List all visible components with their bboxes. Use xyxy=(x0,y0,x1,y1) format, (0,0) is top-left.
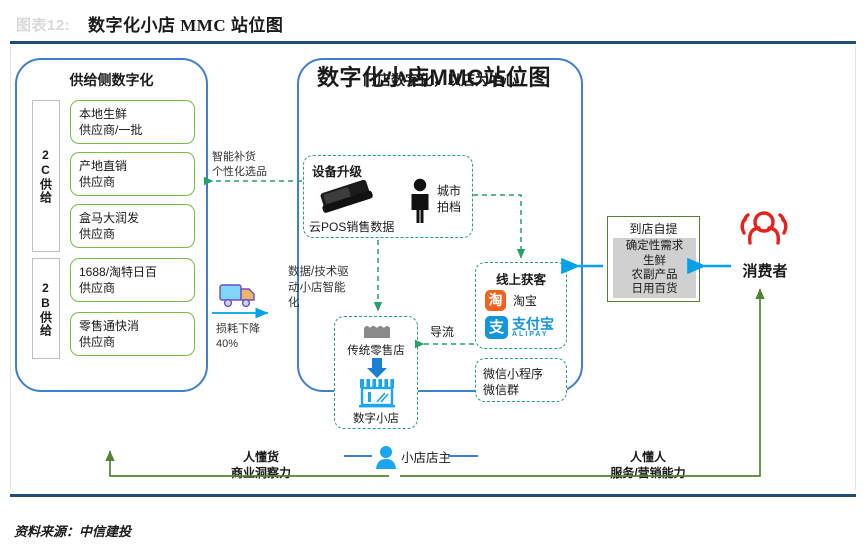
supplier-line1: 本地生鲜 xyxy=(79,106,194,122)
supplier-card[interactable]: 1688/淘特日百 供应商 xyxy=(70,258,195,302)
supplier-line1: 零售通快消 xyxy=(79,318,194,334)
pickup-item: 农副产品 xyxy=(632,268,678,282)
alipay-row[interactable]: 支 支付宝 ALIPAY xyxy=(485,316,554,339)
right-flow-line2: 服务/营销能力 xyxy=(588,466,708,482)
awning-gray-icon xyxy=(362,323,392,341)
pickup-item: 日用百货 xyxy=(632,282,678,296)
pos-terminal-icon xyxy=(316,180,376,215)
equipment-upgrade-box: 设备升级 云POS销售数据 城市 拍档 xyxy=(303,155,473,238)
page-root: 图表12: 数字化小店 MMC 站位图 资料来源：中信建投 数字化小店MMC站位… xyxy=(0,0,866,550)
alipay-sublabel: ALIPAY xyxy=(512,331,554,338)
digital-store-label: 数字小店 xyxy=(335,410,417,426)
consumer-label: 消费者 xyxy=(725,260,805,281)
right-flow-label: 人懂人 服务/营销能力 xyxy=(588,450,708,481)
loss-line1: 损耗下降 xyxy=(216,322,260,337)
city-partner-line1: 城市 xyxy=(437,184,461,200)
supplier-card[interactable]: 本地生鲜 供应商/一批 xyxy=(70,100,195,144)
segment-2b-text: 2B供给 xyxy=(38,281,55,337)
storefront-blue-icon xyxy=(357,375,397,409)
city-partner-label: 城市 拍档 xyxy=(437,184,461,215)
supplier-card[interactable]: 零售通快消 供应商 xyxy=(70,312,195,356)
figure-number: 图表12: xyxy=(16,14,70,35)
segment-label-2b: 2B供给 xyxy=(32,258,60,359)
left-flow-label: 人懂货 商业洞察力 xyxy=(206,450,316,481)
replenish-line1: 智能补货 xyxy=(212,150,267,165)
supply-panel-title: 供给侧数字化 xyxy=(17,70,206,90)
truck-icon xyxy=(219,281,259,309)
alipay-label: 支付宝 xyxy=(512,317,554,331)
pos-label: 云POS销售数据 xyxy=(309,218,394,235)
replenish-connector-label: 智能补货 个性化选品 xyxy=(212,150,267,180)
supplier-line1: 产地直销 xyxy=(79,158,194,174)
wechat-text: 微信小程序 微信群 xyxy=(483,366,543,398)
bottom-divider xyxy=(10,494,856,497)
taobao-row[interactable]: 淘 淘宝 xyxy=(485,290,537,311)
wechat-line2: 微信群 xyxy=(483,382,543,398)
pickup-title: 到店自提 xyxy=(608,220,699,237)
taobao-label: 淘宝 xyxy=(513,292,537,309)
pickup-item: 确定性需求 xyxy=(626,239,684,253)
wechat-line1: 微信小程序 xyxy=(483,366,543,382)
supplier-card[interactable]: 产地直销 供应商 xyxy=(70,152,195,196)
pickup-items: 确定性需求 生鲜 农副产品 日用百货 xyxy=(613,238,696,298)
store-panel-title: 门店数字化，以店为中心 xyxy=(299,70,581,90)
page-title: 数字化小店 MMC 站位图 xyxy=(88,11,283,36)
data-tech-driver-label: 数据/技术驱动小店智能化 xyxy=(288,265,350,312)
replenish-line2: 个性化选品 xyxy=(212,165,267,180)
loss-reduction-label: 损耗下降 40% xyxy=(216,322,260,352)
pickup-item: 生鲜 xyxy=(643,254,666,268)
source-note: 资料来源：中信建投 xyxy=(14,521,131,540)
shop-owner-label: 小店店主 xyxy=(401,447,451,466)
city-partner-line2: 拍档 xyxy=(437,200,461,216)
supplier-line2: 供应商/一批 xyxy=(79,122,194,138)
segment-2c-text: 2C供给 xyxy=(38,148,55,204)
top-divider xyxy=(10,41,856,44)
user-avatar-icon xyxy=(375,445,397,469)
left-flow-line1: 人懂货 xyxy=(206,450,316,466)
right-flow-line1: 人懂人 xyxy=(588,450,708,466)
supplier-line1: 盒马大润发 xyxy=(79,210,194,226)
taobao-icon: 淘 xyxy=(485,290,506,311)
supplier-line2: 供应商 xyxy=(79,280,194,296)
divert-traffic-label: 导流 xyxy=(430,323,454,340)
alipay-wordmark: 支付宝 ALIPAY xyxy=(512,317,554,338)
left-flow-line2: 商业洞察力 xyxy=(206,466,316,482)
traditional-store-label: 传统零售店 xyxy=(335,342,417,358)
online-acquisition-box: 线上获客 淘 淘宝 支 支付宝 ALIPAY xyxy=(475,262,567,349)
person-icon xyxy=(407,178,433,224)
equipment-title: 设备升级 xyxy=(312,161,362,180)
shop-transformation-box: 传统零售店 xyxy=(334,316,418,429)
online-acquisition-title: 线上获客 xyxy=(476,269,566,288)
supplier-card[interactable]: 盒马大润发 供应商 xyxy=(70,204,195,248)
segment-label-2c: 2C供给 xyxy=(32,100,60,252)
supplier-line1: 1688/淘特日百 xyxy=(79,264,194,280)
people-group-icon xyxy=(737,209,791,249)
wechat-channel-box: 微信小程序 微信群 xyxy=(475,358,567,402)
alipay-icon: 支 xyxy=(485,316,508,339)
store-pickup-box: 到店自提 确定性需求 生鲜 农副产品 日用百货 xyxy=(607,216,700,302)
loss-line2: 40% xyxy=(216,337,260,352)
supplier-line2: 供应商 xyxy=(79,334,194,350)
supplier-line2: 供应商 xyxy=(79,226,194,242)
supplier-line2: 供应商 xyxy=(79,174,194,190)
